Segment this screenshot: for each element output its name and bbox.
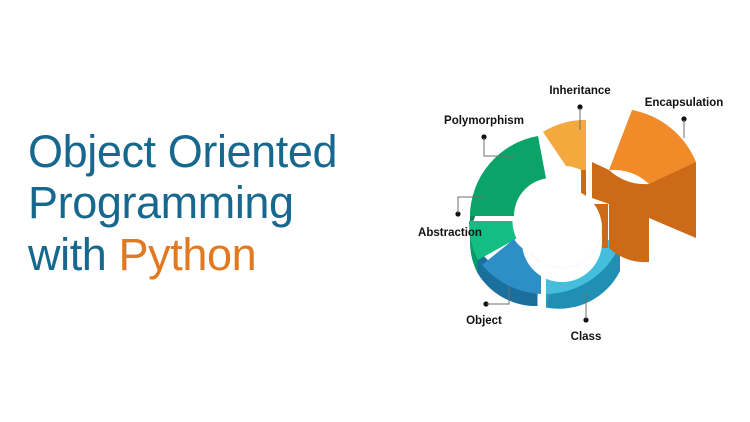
title-accent-python: Python [119, 229, 257, 280]
label-abstraction: Abstraction [418, 227, 482, 239]
chart-svg: Inheritance Encapsulation Polymorphism [396, 52, 750, 352]
callout-inheritance: Inheritance [549, 85, 610, 130]
page-title: Object Oriented Programming with Python [28, 126, 458, 280]
oop-concepts-donut-chart: Inheritance Encapsulation Polymorphism [396, 52, 750, 352]
title-line-3-prefix: with [28, 229, 119, 280]
title-line-1: Object Oriented [28, 126, 458, 177]
label-polymorphism: Polymorphism [444, 115, 524, 127]
donut-hole [522, 188, 602, 268]
label-inheritance: Inheritance [549, 85, 610, 97]
slide-canvas: Object Oriented Programming with Python [0, 0, 750, 422]
label-object: Object [466, 315, 502, 327]
title-line-3: with Python [28, 229, 458, 280]
label-encapsulation: Encapsulation [645, 97, 724, 109]
label-class: Class [571, 331, 602, 343]
title-line-2: Programming [28, 177, 458, 228]
